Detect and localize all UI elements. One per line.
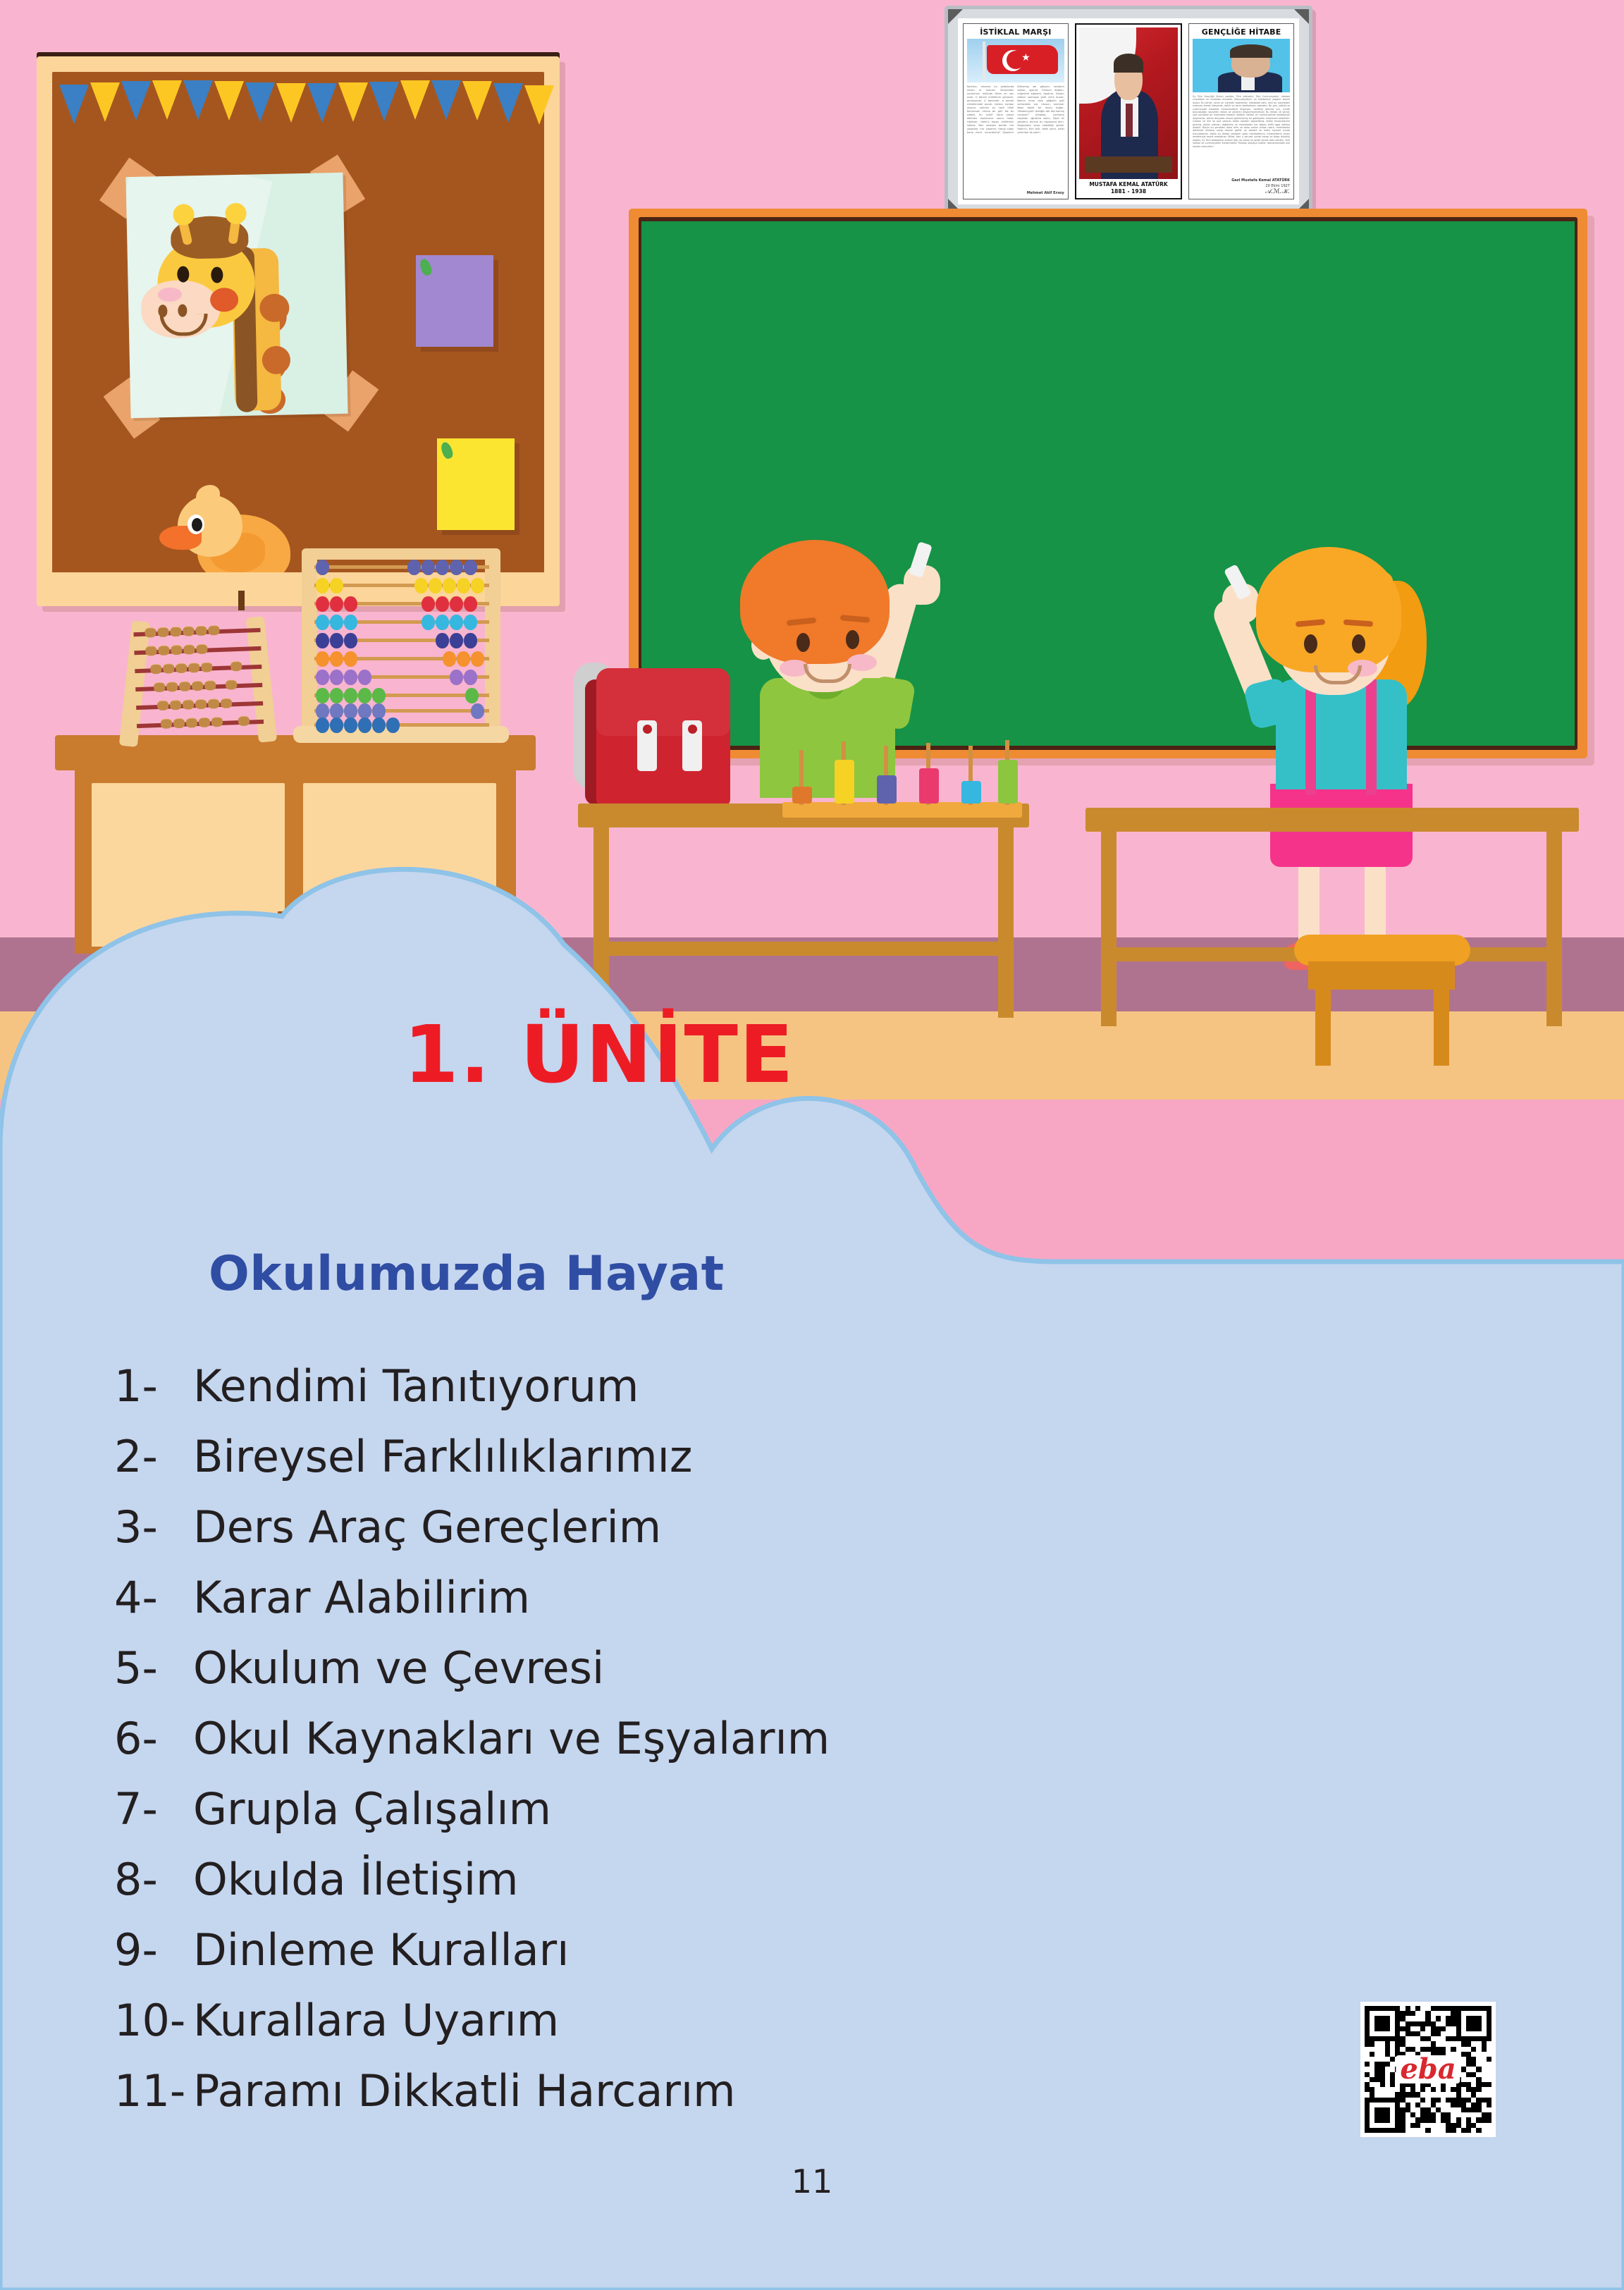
qr-module (1466, 2087, 1471, 2092)
qr-module (1461, 2107, 1466, 2112)
toc-item-label: Paramı Dikkatli Harcarım (193, 2065, 736, 2117)
qr-module (1380, 2082, 1385, 2087)
qr-module (1385, 2016, 1390, 2021)
qr-module (1410, 2112, 1415, 2117)
toc-item[interactable]: 6-Okul Kaynakları ve Eşyalarım (114, 1713, 1101, 1783)
qr-module (1446, 2006, 1451, 2011)
sticky-note-yellow (437, 438, 515, 530)
toc-item[interactable]: 11-Paramı Dikkatli Harcarım (114, 2065, 1101, 2136)
qr-module (1395, 2117, 1400, 2122)
bunting-garland (59, 80, 546, 111)
qr-module (1471, 2087, 1476, 2092)
qr-module (1405, 2103, 1410, 2107)
qr-module (1451, 2011, 1456, 2016)
qr-module (1482, 2082, 1487, 2087)
qr-module (1365, 2062, 1370, 2067)
qr-module (1395, 2123, 1400, 2128)
qr-module (1471, 2016, 1476, 2021)
qr-module (1374, 2006, 1379, 2011)
qr-module (1456, 2123, 1461, 2128)
qr-module (1436, 2107, 1441, 2112)
toc-item-number: 7- (114, 1783, 193, 1835)
toc-item-number: 4- (114, 1572, 193, 1623)
unit-content: 1. ÜNİTE Okulumuzda Hayat 1-Kendimi Tanı… (0, 867, 1624, 2290)
toc-item[interactable]: 3-Ders Araç Gereçlerim (114, 1501, 1101, 1572)
qr-module (1365, 2098, 1370, 2103)
qr-module (1395, 2041, 1400, 2046)
qr-module (1466, 2128, 1471, 2133)
qr-module (1385, 2021, 1390, 2026)
qr-module (1461, 2128, 1466, 2133)
qr-module (1431, 2031, 1436, 2036)
toc-item[interactable]: 8-Okulda İletişim (114, 1854, 1101, 1924)
qr-module (1395, 2036, 1400, 2041)
qr-module (1436, 2098, 1441, 2103)
qr-module (1466, 2123, 1471, 2128)
qr-module (1395, 2103, 1400, 2107)
qr-module (1400, 2128, 1405, 2133)
qr-module (1441, 2006, 1446, 2011)
qr-module (1466, 2098, 1471, 2103)
toc-item-label: Ders Araç Gereçlerim (193, 1501, 661, 1553)
qr-module (1425, 2117, 1430, 2122)
qr-module (1374, 2077, 1379, 2082)
qr-module (1482, 2041, 1487, 2046)
qr-module (1476, 2087, 1481, 2092)
qr-module (1390, 2098, 1395, 2103)
qr-module (1420, 2026, 1425, 2031)
qr-module (1420, 2021, 1425, 2026)
qr-module (1420, 2047, 1425, 2052)
toc-item-label: Okul Kaynakları ve Eşyalarım (193, 1713, 830, 1764)
qr-module (1451, 2016, 1456, 2021)
qr-module (1420, 2117, 1425, 2122)
ataturk-profile-photo (1193, 39, 1290, 92)
qr-module (1365, 2026, 1370, 2031)
qr-module (1420, 2112, 1425, 2117)
ataturk-photo (1079, 27, 1179, 179)
toc-item-label: Kendimi Tanıtıyorum (193, 1360, 639, 1412)
qr-module (1431, 2041, 1436, 2046)
qr-module (1415, 2021, 1420, 2026)
qr-module (1456, 2103, 1461, 2107)
qr-module (1380, 2026, 1385, 2031)
qr-module (1374, 2062, 1379, 2067)
qr-module (1487, 2082, 1491, 2087)
eba-logo: eba (1396, 2055, 1460, 2083)
qr-module (1476, 2103, 1481, 2107)
toc-item-label: Dinleme Kuralları (193, 1924, 569, 1976)
qr-module (1365, 2011, 1370, 2016)
toc-item-number: 10- (114, 1995, 193, 2046)
qr-module (1365, 2036, 1370, 2041)
wall-posters-frame: İSTİKLAL MARŞI ★ Korkma, sönmez bu şafak… (945, 6, 1312, 217)
qr-module (1400, 2098, 1405, 2103)
qr-module (1471, 2036, 1476, 2041)
qr-module (1420, 2107, 1425, 2112)
ataturk-autograph: 𝒜.ℳ.𝒦. (1265, 188, 1290, 195)
qr-module (1395, 2098, 1400, 2103)
boy-hair (740, 540, 890, 664)
qr-module (1487, 2117, 1491, 2122)
qr-module (1466, 2052, 1471, 2057)
qr-module (1385, 2128, 1390, 2133)
qr-module (1456, 2016, 1461, 2021)
colorful-abacus[interactable] (302, 548, 500, 744)
qr-module (1425, 2047, 1430, 2052)
qr-module (1420, 2087, 1425, 2092)
qr-module (1451, 2047, 1456, 2052)
toc-item-number: 9- (114, 1924, 193, 1976)
qr-module (1365, 2103, 1370, 2107)
qr-module (1451, 2021, 1456, 2026)
qr-module (1380, 2021, 1385, 2026)
qr-module (1410, 2021, 1415, 2026)
qr-module (1446, 2112, 1451, 2117)
qr-module (1461, 2103, 1466, 2107)
wooden-abacus[interactable] (116, 616, 283, 749)
poster-title-istiklal: İSTİKLAL MARŞI (980, 27, 1051, 37)
qr-module (1365, 2128, 1370, 2133)
qr-module (1365, 2072, 1370, 2077)
qr-module (1431, 2047, 1436, 2052)
qr-module (1374, 2112, 1379, 2117)
qr-module (1471, 2021, 1476, 2026)
bulletin-board (37, 56, 560, 606)
qr-module (1471, 2026, 1476, 2031)
qr-module (1410, 2011, 1415, 2016)
qr-module (1476, 2006, 1481, 2011)
qr-module (1482, 2036, 1487, 2041)
table-of-contents: 1-Kendimi Tanıtıyorum2-Bireysel Farklılı… (114, 1360, 1101, 2136)
qr-module (1385, 2047, 1390, 2052)
eba-qr-code[interactable]: eba (1360, 2002, 1496, 2137)
qr-module (1390, 2072, 1395, 2077)
qr-module (1446, 2021, 1451, 2026)
qr-module (1476, 2021, 1481, 2026)
qr-module (1395, 2026, 1400, 2031)
qr-module (1400, 2036, 1405, 2041)
unit-title: 1. ÜNİTE (0, 1009, 1198, 1101)
qr-module (1466, 2026, 1471, 2031)
duck-cutout (164, 495, 297, 586)
toc-item[interactable]: 2-Bireysel Farklılıklarımız (114, 1431, 1101, 1501)
qr-module (1451, 2098, 1456, 2103)
qr-module (1380, 2036, 1385, 2041)
red-backpack[interactable] (584, 655, 732, 811)
qr-module (1446, 2123, 1451, 2128)
qr-module (1385, 2041, 1390, 2046)
qr-module (1441, 2047, 1446, 2052)
qr-module (1390, 2128, 1395, 2133)
counting-rods-toy[interactable] (782, 734, 1022, 819)
qr-module (1395, 2021, 1400, 2026)
qr-module (1471, 2092, 1476, 2097)
qr-module (1395, 2107, 1400, 2112)
qr-module (1425, 2128, 1430, 2133)
qr-module (1385, 2026, 1390, 2031)
qr-module (1390, 2082, 1395, 2087)
qr-module (1400, 2092, 1405, 2097)
genclige-signature-name: Gazi Mustafa Kemal ATATÜRK (1231, 178, 1290, 183)
qr-module (1456, 2117, 1461, 2122)
toc-item-label: Okulda İletişim (193, 1854, 519, 1905)
qr-module (1446, 2016, 1451, 2021)
poster-body-istiklal: Korkma, sönmez bu şafaklarda yüzen al sa… (967, 85, 1064, 190)
qr-module (1431, 2026, 1436, 2031)
qr-module (1370, 2006, 1374, 2011)
qr-module (1451, 2036, 1456, 2041)
qr-module (1385, 2062, 1390, 2067)
qr-module (1461, 2082, 1466, 2087)
qr-module (1425, 2021, 1430, 2026)
poster-signature-ersoy: Mehmet Akif Ersoy (1027, 191, 1064, 195)
qr-module (1420, 2098, 1425, 2103)
qr-module (1487, 2011, 1491, 2016)
qr-module (1446, 2128, 1451, 2133)
qr-module (1431, 2117, 1436, 2122)
qr-module (1405, 2031, 1410, 2036)
qr-module (1374, 2026, 1379, 2031)
qr-module (1400, 2041, 1405, 2046)
qr-module (1400, 2087, 1405, 2092)
qr-module (1370, 2052, 1374, 2057)
qr-module (1456, 2087, 1461, 2092)
qr-module (1374, 2016, 1379, 2021)
qr-module (1431, 2103, 1436, 2107)
toc-item-label: Bireysel Farklılıklarımız (193, 1431, 692, 1482)
qr-module (1431, 2112, 1436, 2117)
qr-module (1466, 2107, 1471, 2112)
toc-item-number: 5- (114, 1642, 193, 1694)
qr-module (1436, 2026, 1441, 2031)
qr-module (1405, 2107, 1410, 2112)
qr-module (1487, 2036, 1491, 2041)
qr-module (1466, 2057, 1471, 2062)
qr-module (1466, 2082, 1471, 2087)
unit-opener-page: İSTİKLAL MARŞI ★ Korkma, sönmez bu şafak… (0, 0, 1624, 2290)
qr-module (1441, 2117, 1446, 2122)
toc-item-number: 8- (114, 1854, 193, 1905)
qr-module (1365, 2112, 1370, 2117)
qr-module (1456, 2031, 1461, 2036)
poster-title-genclige: GENÇLİĞE HİTABE (1202, 27, 1281, 37)
toc-item[interactable]: 7-Grupla Çalışalım (114, 1783, 1101, 1854)
toc-item[interactable]: 5-Okulum ve Çevresi (114, 1642, 1101, 1713)
qr-module (1365, 2087, 1370, 2092)
poster-genclige-hitabe: GENÇLİĞE HİTABE Ey Türk Gençliği! Birinc… (1188, 23, 1294, 199)
qr-module (1400, 2011, 1405, 2016)
qr-module (1471, 2103, 1476, 2107)
qr-module (1415, 2031, 1420, 2036)
turkish-flag-image: ★ (967, 39, 1064, 82)
qr-module (1436, 2016, 1441, 2021)
push-pin-icon (439, 441, 454, 460)
toc-item[interactable]: 1-Kendimi Tanıtıyorum (114, 1360, 1101, 1431)
qr-module (1370, 2087, 1374, 2092)
qr-module (1405, 2021, 1410, 2026)
qr-module (1365, 2016, 1370, 2021)
qr-module (1476, 2128, 1481, 2133)
qr-module (1385, 2052, 1390, 2057)
qr-module (1390, 2036, 1395, 2041)
qr-module (1461, 2098, 1466, 2103)
qr-module (1466, 2021, 1471, 2026)
toc-item[interactable]: 10-Kurallara Uyarım (114, 1995, 1101, 2065)
qr-module (1385, 2112, 1390, 2117)
push-pin-icon (418, 257, 433, 276)
qr-module (1380, 2128, 1385, 2133)
qr-module (1456, 2026, 1461, 2031)
qr-module (1487, 2006, 1491, 2011)
qr-module (1487, 2057, 1491, 2062)
ataturk-caption-name: MUSTAFA KEMAL ATATÜRK (1089, 181, 1167, 187)
qr-module (1487, 2103, 1491, 2107)
qr-module (1374, 2036, 1379, 2041)
qr-module (1390, 2006, 1395, 2011)
qr-module (1400, 2107, 1405, 2112)
qr-module (1405, 2026, 1410, 2031)
qr-module (1390, 2057, 1395, 2062)
qr-module (1456, 2092, 1461, 2097)
qr-module (1436, 2047, 1441, 2052)
qr-module (1487, 2098, 1491, 2103)
qr-module (1380, 2062, 1385, 2067)
qr-module (1365, 2031, 1370, 2036)
qr-module (1466, 2041, 1471, 2046)
qr-module (1425, 2112, 1430, 2117)
qr-module (1482, 2112, 1487, 2117)
qr-module (1370, 2128, 1374, 2133)
qr-module (1365, 2117, 1370, 2122)
qr-module (1395, 2016, 1400, 2021)
qr-module (1400, 2112, 1405, 2117)
qr-module (1471, 2047, 1476, 2052)
qr-module (1456, 2011, 1461, 2016)
qr-module (1380, 2006, 1385, 2011)
qr-module (1365, 2021, 1370, 2026)
qr-module (1365, 2041, 1370, 2046)
qr-module (1471, 2006, 1476, 2011)
qr-module (1476, 2077, 1481, 2082)
qr-module (1374, 2107, 1379, 2112)
toc-item-number: 2- (114, 1431, 193, 1482)
qr-module (1374, 2021, 1379, 2026)
girl-top (1276, 679, 1407, 789)
toc-item[interactable]: 9-Dinleme Kuralları (114, 1924, 1101, 1995)
qr-module (1374, 2128, 1379, 2133)
qr-module (1431, 2006, 1436, 2011)
qr-module (1482, 2006, 1487, 2011)
qr-module (1471, 2057, 1476, 2062)
qr-module (1415, 2117, 1420, 2122)
toc-item-number: 3- (114, 1501, 193, 1553)
qr-module (1365, 2082, 1370, 2087)
qr-module (1370, 2041, 1374, 2046)
qr-module (1400, 2026, 1405, 2031)
qr-module (1425, 2107, 1430, 2112)
poster-ataturk-portrait: MUSTAFA KEMAL ATATÜRK 1881 - 1938 (1075, 23, 1183, 199)
toc-item-label: Kurallara Uyarım (193, 1995, 559, 2046)
qr-module (1395, 2047, 1400, 2052)
qr-module (1451, 2103, 1456, 2107)
qr-module (1374, 2067, 1379, 2072)
qr-module (1461, 2036, 1466, 2041)
qr-module (1380, 2098, 1385, 2103)
qr-module (1385, 2107, 1390, 2112)
qr-module (1365, 2006, 1370, 2011)
qr-module (1431, 2087, 1436, 2092)
qr-module (1405, 2047, 1410, 2052)
qr-module (1476, 2026, 1481, 2031)
unit-subtitle: Okulumuzda Hayat (209, 1246, 725, 1302)
qr-module (1395, 2011, 1400, 2016)
qr-module (1441, 2112, 1446, 2117)
qr-module (1415, 2123, 1420, 2128)
qr-module (1466, 2036, 1471, 2041)
qr-module (1461, 2067, 1466, 2072)
qr-module (1461, 2006, 1466, 2011)
qr-module (1400, 2123, 1405, 2128)
qr-module (1374, 2098, 1379, 2103)
qr-module (1390, 2077, 1395, 2082)
qr-module (1482, 2117, 1487, 2122)
qr-module (1400, 2117, 1405, 2122)
toc-item-number: 1- (114, 1360, 193, 1412)
qr-module (1385, 2117, 1390, 2122)
qr-module (1451, 2006, 1456, 2011)
qr-module (1425, 2016, 1430, 2021)
qr-module (1395, 2006, 1400, 2011)
qr-module (1476, 2067, 1481, 2072)
toc-item-number: 11- (114, 2065, 193, 2117)
qr-module (1471, 2072, 1476, 2077)
qr-module (1410, 2092, 1415, 2097)
qr-module (1456, 2098, 1461, 2103)
qr-module (1456, 2021, 1461, 2026)
toc-item[interactable]: 4-Karar Alabilirim (114, 1572, 1101, 1642)
qr-module (1400, 2016, 1405, 2021)
qr-module (1380, 2117, 1385, 2122)
qr-module (1385, 2098, 1390, 2103)
qr-module (1466, 2062, 1471, 2067)
qr-module (1370, 2092, 1374, 2097)
qr-module (1395, 2128, 1400, 2133)
giraffe-drawing (125, 173, 347, 418)
qr-module (1487, 2031, 1491, 2036)
page-number: 11 (0, 2162, 1624, 2200)
qr-module (1451, 2128, 1456, 2133)
ataturk-caption-years: 1881 - 1938 (1111, 188, 1146, 195)
qr-module (1446, 2036, 1451, 2041)
qr-module (1380, 2016, 1385, 2021)
toc-item-label: Karar Alabilirim (193, 1572, 530, 1623)
qr-module (1466, 2006, 1471, 2011)
qr-module (1451, 2123, 1456, 2128)
toc-item-label: Okulum ve Çevresi (193, 1642, 604, 1694)
qr-module (1441, 2026, 1446, 2031)
qr-module (1476, 2098, 1481, 2103)
qr-module (1380, 2077, 1385, 2082)
qr-module (1374, 2072, 1379, 2077)
qr-module (1410, 2047, 1415, 2052)
sticky-note-purple (416, 255, 493, 347)
qr-module (1410, 2123, 1415, 2128)
qr-module (1466, 2072, 1471, 2077)
qr-module (1482, 2098, 1487, 2103)
qr-module (1415, 2006, 1420, 2011)
qr-module (1405, 2006, 1410, 2011)
